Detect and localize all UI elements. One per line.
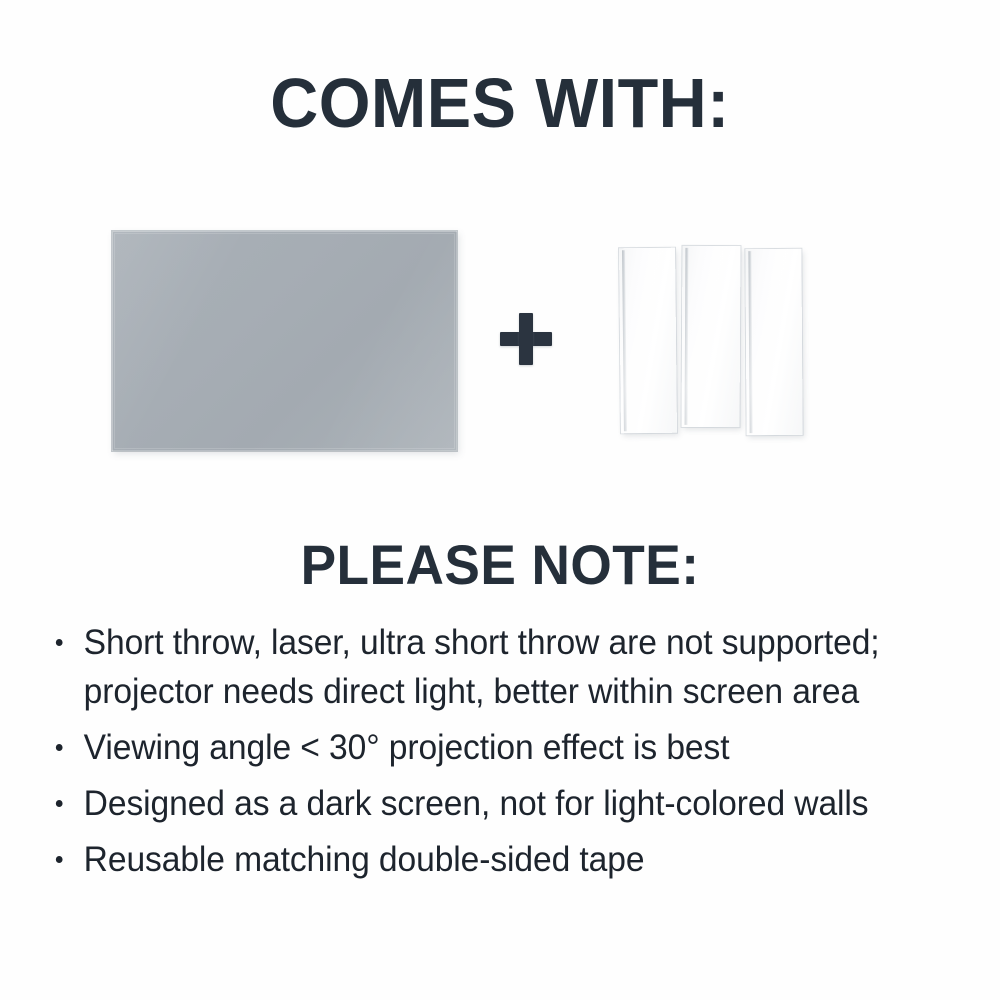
product-contents-illustration (0, 225, 1000, 465)
tape-strip-group (612, 225, 822, 465)
list-item-text: Designed as a dark screen, not for light… (84, 784, 869, 823)
tape-strip-gloss (745, 249, 802, 435)
double-sided-tape-strip (745, 249, 802, 435)
bullet-icon (56, 639, 63, 646)
list-item: Viewing angle < 30° projection effect is… (52, 723, 916, 772)
bullet-icon (56, 856, 63, 863)
bullet-icon (56, 744, 63, 751)
tape-strip-edge (622, 250, 627, 431)
tape-strip-gloss (682, 246, 741, 427)
comes-with-heading: COMES WITH: (25, 68, 975, 138)
projector-screen-panel (112, 231, 457, 451)
plus-icon-vertical-bar (519, 313, 533, 365)
list-item: Short throw, laser, ultra short throw ar… (52, 618, 916, 716)
tape-strip-edge (685, 248, 689, 425)
bullet-icon (56, 800, 63, 807)
please-note-list: Short throw, laser, ultra short throw ar… (52, 618, 952, 891)
tape-strip-gloss (619, 248, 677, 434)
list-item-text: Short throw, laser, ultra short throw ar… (84, 623, 880, 711)
list-item: Reusable matching double-sided tape (52, 835, 916, 884)
list-item: Designed as a dark screen, not for light… (52, 779, 916, 828)
list-item-text: Reusable matching double-sided tape (84, 840, 645, 879)
please-note-heading: PLEASE NOTE: (25, 537, 975, 593)
double-sided-tape-strip (619, 248, 677, 434)
tape-strip-edge (748, 251, 752, 433)
plus-icon (500, 313, 552, 365)
list-item-text: Viewing angle < 30° projection effect is… (84, 728, 730, 767)
double-sided-tape-strip (682, 246, 741, 427)
